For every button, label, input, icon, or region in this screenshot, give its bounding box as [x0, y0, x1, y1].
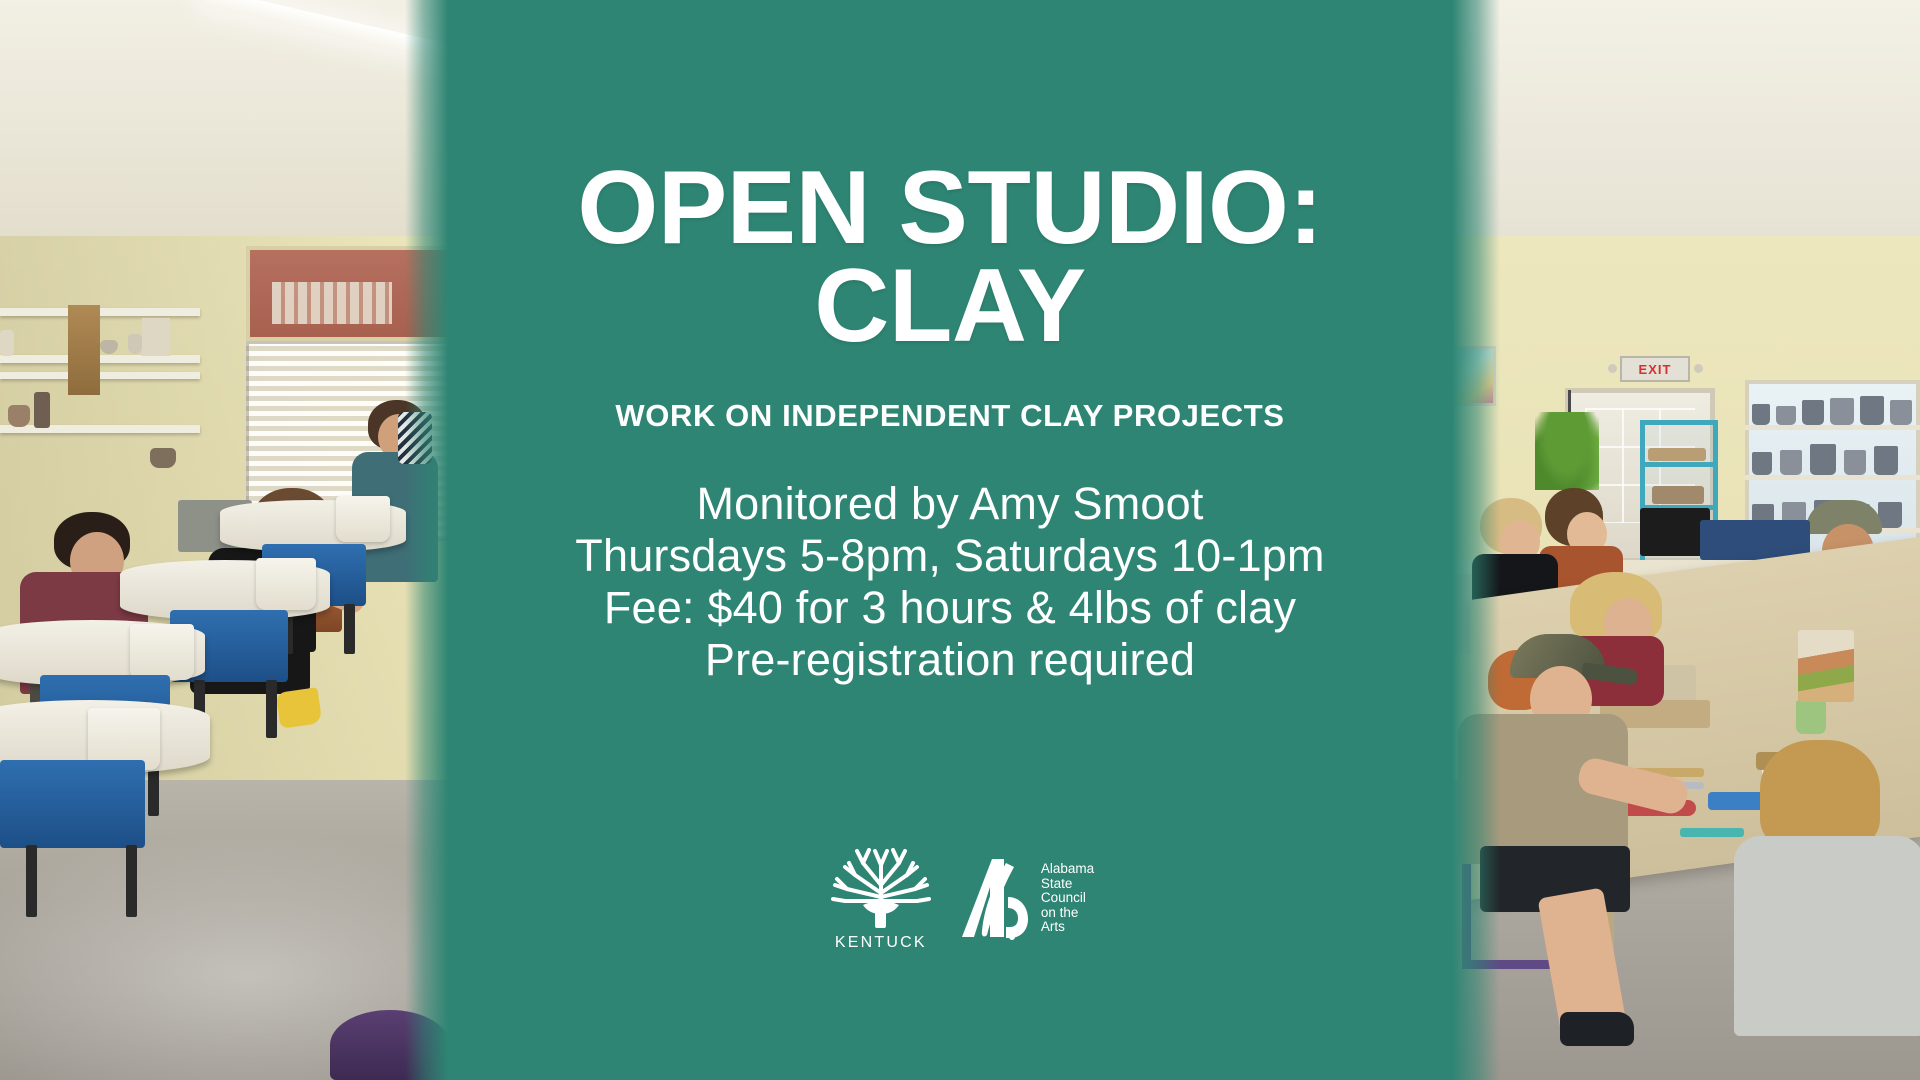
- detail-line-registration: Pre-registration required: [575, 634, 1324, 686]
- asca-line-1: Alabama: [1041, 862, 1094, 877]
- asca-line-5: Arts: [1041, 920, 1094, 935]
- asca-line-3: Council: [1041, 891, 1094, 906]
- detail-line-schedule: Thursdays 5-8pm, Saturdays 10-1pm: [575, 530, 1324, 582]
- asca-wordmark: Alabama State Council on the Arts: [1041, 862, 1094, 935]
- asca-line-2: State: [1041, 877, 1094, 892]
- kentuck-wordmark: KENTUCK: [835, 934, 927, 952]
- asca-a-monogram-icon: [962, 857, 1034, 941]
- logo-row: KENTUCK Alabama State Council on the Art…: [0, 845, 1920, 952]
- tree-icon: [829, 845, 933, 931]
- detail-line-fee: Fee: $40 for 3 hours & 4lbs of clay: [575, 582, 1324, 634]
- kentuck-logo: KENTUCK: [826, 845, 936, 952]
- poster: EXIT: [0, 0, 1920, 1080]
- subtitle: WORK ON INDEPENDENT CLAY PROJECTS: [615, 398, 1284, 434]
- asca-line-4: on the: [1041, 906, 1094, 921]
- detail-line-instructor: Monitored by Amy Smoot: [575, 478, 1324, 530]
- details-block: Monitored by Amy Smoot Thursdays 5-8pm, …: [575, 478, 1324, 687]
- asca-logo: Alabama State Council on the Arts: [962, 857, 1094, 941]
- title-line-2: CLAY: [577, 258, 1322, 356]
- page-title: OPEN STUDIO: CLAY: [577, 0, 1322, 356]
